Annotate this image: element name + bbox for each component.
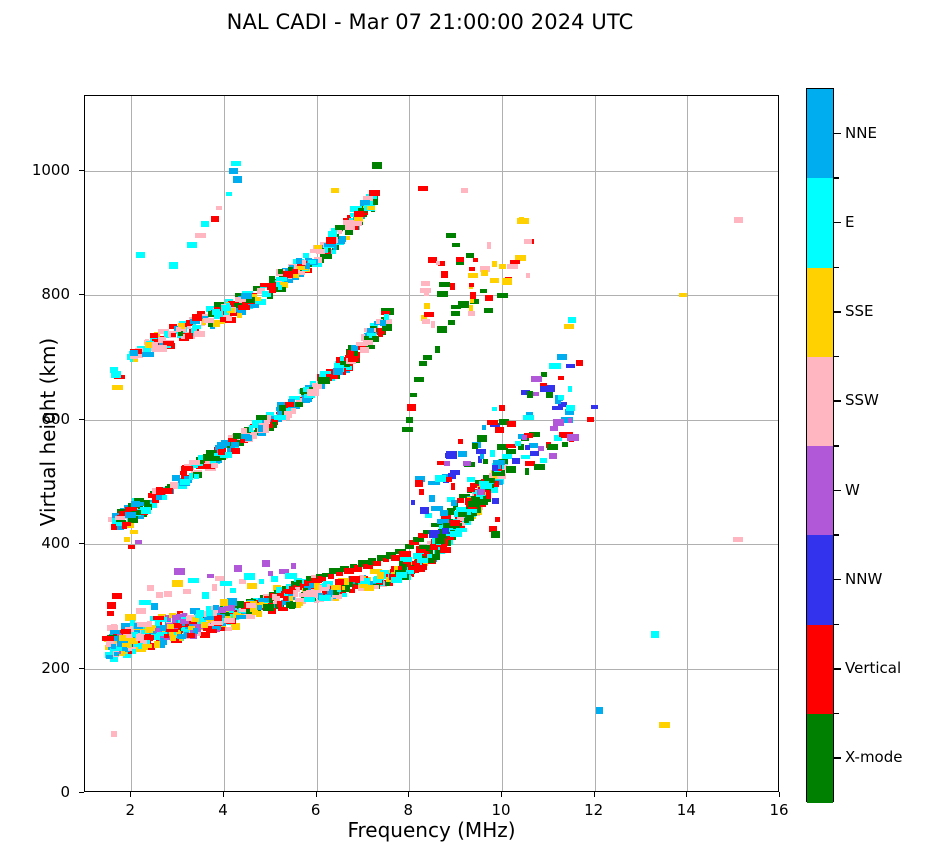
data-point (396, 572, 407, 578)
data-point (659, 722, 670, 728)
data-point (436, 261, 440, 265)
data-point (318, 377, 330, 384)
data-point (499, 405, 505, 411)
data-point (241, 428, 247, 434)
data-point (419, 489, 424, 495)
data-point (274, 415, 286, 420)
data-point (231, 161, 241, 166)
data-point (419, 545, 430, 549)
data-point (499, 264, 506, 269)
data-point (203, 454, 214, 461)
data-point (156, 487, 163, 491)
data-point (679, 293, 687, 297)
colorbar-tick-mark (834, 311, 841, 313)
data-point (156, 592, 163, 598)
data-point (226, 192, 232, 196)
data-point (167, 624, 174, 629)
data-point (137, 622, 147, 627)
data-point (111, 731, 117, 737)
data-point (356, 342, 368, 346)
x-tick-mark (408, 792, 409, 797)
colorbar-boundary-tick (834, 356, 839, 358)
data-point (492, 407, 497, 411)
data-point (423, 355, 432, 360)
data-point (333, 368, 343, 375)
data-point (418, 186, 428, 191)
data-point (377, 572, 384, 579)
x-tick-mark (594, 792, 595, 797)
data-point (481, 270, 488, 276)
colorbar-tick-mark (834, 668, 841, 670)
y-axis-label: Virtual height (km) (36, 232, 60, 632)
data-point (355, 576, 360, 583)
data-point (125, 512, 136, 518)
data-point (245, 435, 252, 441)
y-tick-mark (79, 419, 84, 420)
data-point (203, 318, 214, 323)
colorbar-boundary-tick (834, 534, 839, 536)
data-point (224, 618, 235, 623)
data-point (442, 528, 449, 534)
data-point (130, 530, 138, 534)
data-point (526, 273, 530, 278)
data-point (189, 460, 200, 465)
data-point (211, 621, 223, 625)
data-point (125, 507, 137, 511)
data-point (151, 603, 158, 610)
data-point (399, 561, 403, 565)
colorbar-label-e: E (845, 213, 854, 231)
data-point (540, 458, 547, 463)
data-point (490, 278, 499, 283)
data-point (249, 425, 253, 432)
colorbar-band-x-mode[interactable] (807, 714, 833, 803)
data-point (114, 652, 119, 656)
data-point (206, 629, 217, 633)
data-point (160, 638, 164, 643)
data-point (473, 258, 478, 262)
data-point (172, 615, 181, 620)
data-point (316, 249, 325, 254)
data-point (152, 488, 156, 494)
x-tick-label: 12 (571, 801, 617, 819)
data-point (244, 573, 255, 580)
data-point (547, 444, 558, 450)
data-point (562, 442, 568, 447)
data-points-layer (85, 96, 778, 791)
data-point (351, 345, 358, 351)
data-point (458, 451, 467, 457)
data-point (293, 590, 298, 597)
data-point (169, 262, 178, 269)
x-tick-mark (779, 792, 780, 797)
y-tick-label: 0 (10, 783, 70, 801)
data-point (490, 450, 495, 457)
data-point (115, 516, 125, 520)
colorbar-label-nnw: NNW (845, 570, 882, 588)
colorbar-tick-mark (834, 757, 841, 759)
data-point (139, 600, 151, 605)
data-point (181, 466, 193, 471)
data-point (331, 188, 339, 193)
data-point (111, 644, 116, 649)
data-point (386, 582, 390, 586)
data-point (479, 481, 489, 486)
data-point (354, 211, 365, 217)
data-point (326, 237, 336, 244)
data-point (124, 537, 130, 542)
data-point (177, 634, 186, 639)
data-point (135, 502, 144, 506)
y-tick-label: 200 (10, 659, 70, 677)
data-point (424, 291, 429, 296)
data-point (439, 282, 450, 287)
data-point (319, 595, 331, 601)
colorbar-band-ssw[interactable] (807, 357, 833, 446)
colorbar-band-e[interactable] (807, 178, 833, 267)
data-point (296, 258, 302, 264)
data-point (207, 616, 214, 620)
plot-area[interactable] (84, 95, 779, 792)
data-point (328, 574, 334, 579)
data-point (468, 311, 475, 316)
data-point (495, 517, 500, 522)
data-point (344, 568, 354, 574)
data-point (231, 448, 240, 454)
data-point (231, 623, 240, 630)
data-point (348, 356, 359, 362)
data-point (446, 233, 456, 238)
data-point (452, 243, 460, 247)
data-point (440, 547, 451, 553)
data-point (468, 273, 478, 278)
data-point (143, 635, 154, 640)
data-point (238, 305, 250, 310)
data-point (107, 602, 116, 609)
data-point (170, 635, 176, 641)
data-point (157, 345, 167, 352)
x-tick-mark (686, 792, 687, 797)
data-point (411, 500, 415, 505)
data-point (467, 487, 475, 492)
data-point (176, 327, 181, 332)
data-point (213, 320, 220, 327)
data-point (457, 498, 464, 503)
data-point (220, 317, 226, 322)
data-point (422, 319, 430, 324)
colorbar-label-w: W (845, 481, 860, 499)
data-point (206, 606, 211, 612)
data-point (463, 461, 471, 466)
data-point (142, 644, 148, 650)
data-point (279, 405, 286, 411)
data-point (256, 415, 267, 420)
data-point (415, 480, 423, 487)
colorbar-tick-mark (834, 490, 841, 492)
data-point (566, 405, 575, 411)
y-tick-mark (79, 170, 84, 171)
data-point (258, 598, 269, 602)
colorbar-tick-mark (834, 400, 841, 402)
data-point (506, 466, 516, 473)
data-point (435, 538, 445, 544)
data-point (112, 385, 123, 390)
data-point (110, 630, 120, 634)
data-point (136, 252, 145, 258)
data-point (277, 601, 282, 607)
data-point (564, 324, 574, 329)
data-point (487, 420, 498, 425)
colorbar-label-x-mode: X-mode (845, 748, 902, 766)
data-point (435, 346, 440, 353)
data-point (241, 293, 252, 299)
data-point (587, 417, 594, 422)
data-point (277, 410, 282, 415)
data-point (269, 276, 275, 283)
data-point (538, 446, 544, 451)
data-point (419, 361, 427, 366)
data-point (480, 289, 487, 293)
data-point (233, 442, 239, 447)
data-point (424, 303, 430, 309)
x-tick-label: 10 (478, 801, 524, 819)
data-point (207, 574, 214, 578)
y-tick-mark (79, 668, 84, 669)
data-point (465, 516, 474, 521)
data-point (476, 449, 486, 454)
data-point (153, 616, 164, 620)
data-point (337, 239, 345, 244)
data-point (367, 328, 374, 333)
colorbar-boundary-tick (834, 713, 839, 715)
data-point (128, 545, 135, 549)
data-point (258, 425, 263, 432)
colorbar-band-w[interactable] (807, 446, 833, 535)
data-point (524, 239, 532, 244)
data-point (292, 269, 298, 274)
data-point (449, 520, 460, 526)
data-point (102, 636, 114, 641)
data-point (451, 311, 460, 316)
data-point (135, 540, 142, 544)
data-point (331, 585, 341, 590)
data-point (147, 585, 154, 591)
data-point (260, 283, 270, 287)
data-point (164, 591, 172, 597)
colorbar-tick-mark (834, 133, 841, 135)
x-tick-label: 4 (200, 801, 246, 819)
data-point (162, 495, 167, 500)
data-point (733, 537, 743, 542)
data-point (487, 242, 491, 249)
data-point (467, 477, 475, 482)
data-point (491, 531, 500, 538)
data-point (220, 581, 232, 586)
data-point (122, 643, 130, 647)
data-point (440, 510, 448, 516)
data-point (374, 585, 379, 589)
data-point (136, 634, 144, 641)
data-point (568, 386, 572, 392)
data-point (322, 583, 327, 587)
data-point (187, 633, 195, 638)
data-point (523, 415, 534, 420)
data-point (178, 331, 183, 336)
data-point (271, 576, 278, 582)
data-point (527, 391, 533, 398)
data-point (194, 474, 199, 479)
data-point (150, 333, 158, 338)
data-point (483, 459, 488, 464)
data-point (506, 449, 516, 454)
data-point (507, 421, 516, 427)
colorbar-boundary-tick (834, 624, 839, 626)
data-point (558, 395, 564, 400)
data-point (116, 522, 122, 526)
data-point (596, 707, 603, 714)
data-point (195, 614, 203, 618)
data-point (187, 242, 197, 248)
data-point (286, 602, 296, 608)
data-point (188, 578, 199, 583)
data-point (512, 458, 520, 464)
data-point (533, 392, 539, 396)
data-point (252, 610, 258, 615)
data-point (345, 224, 355, 230)
data-point (202, 592, 209, 599)
colorbar-tick-mark (834, 579, 841, 581)
data-point (734, 217, 743, 223)
data-point (186, 616, 192, 621)
colorbar-band-sse[interactable] (807, 268, 833, 357)
data-point (566, 364, 575, 368)
y-tick-label: 1000 (10, 161, 70, 179)
data-point (651, 631, 659, 638)
data-point (576, 360, 583, 366)
data-point (211, 463, 218, 468)
data-point (485, 295, 493, 301)
data-point (218, 311, 223, 317)
data-point (291, 563, 296, 569)
data-point (383, 558, 389, 562)
data-point (259, 579, 264, 584)
data-point (247, 583, 257, 589)
data-point (122, 522, 131, 526)
colorbar-band-nnw[interactable] (807, 535, 833, 624)
data-point (430, 544, 436, 549)
data-point (145, 626, 153, 633)
data-point (107, 611, 114, 616)
data-point (147, 621, 152, 627)
data-point (468, 501, 480, 507)
data-point (502, 278, 512, 285)
data-point (557, 354, 567, 360)
data-point (515, 441, 521, 446)
data-point (558, 376, 564, 380)
x-tick-label: 6 (293, 801, 339, 819)
colorbar-band-nne[interactable] (807, 89, 833, 178)
data-point (420, 507, 429, 514)
data-point (336, 572, 343, 576)
x-tick-label: 14 (663, 801, 709, 819)
data-point (437, 326, 447, 333)
data-point (211, 216, 219, 222)
data-point (276, 277, 287, 281)
data-point (213, 605, 219, 610)
data-point (112, 593, 122, 599)
data-point (224, 605, 235, 611)
data-point (278, 285, 282, 290)
ionogram-figure: NAL CADI - Mar 07 21:00:00 2024 UTC 2468… (0, 0, 951, 856)
data-point (236, 615, 246, 619)
data-point (234, 565, 242, 572)
data-point (450, 283, 455, 290)
data-point (451, 500, 457, 506)
x-axis-label: Frequency (MHz) (84, 818, 779, 842)
x-tick-label: 16 (756, 801, 802, 819)
data-point (469, 283, 474, 287)
x-tick-mark (130, 792, 131, 797)
x-tick-mark (316, 792, 317, 797)
data-point (458, 301, 469, 308)
data-point (195, 233, 206, 238)
data-point (201, 221, 209, 227)
x-tick-mark (501, 792, 502, 797)
data-point (495, 427, 504, 433)
data-point (194, 331, 205, 337)
data-point (441, 271, 448, 278)
data-point (295, 402, 303, 407)
data-point (477, 489, 485, 495)
data-point (123, 623, 130, 627)
data-point (424, 312, 434, 317)
colorbar-tick-mark (834, 222, 841, 224)
data-point (446, 477, 452, 482)
data-point (163, 488, 173, 494)
data-point (507, 264, 518, 269)
data-point (414, 563, 420, 570)
data-point (111, 371, 121, 378)
data-point (173, 623, 182, 628)
data-point (180, 479, 190, 485)
y-tick-mark (79, 543, 84, 544)
data-point (413, 553, 422, 559)
colorbar[interactable] (806, 88, 834, 802)
data-point (531, 376, 542, 382)
data-point (480, 454, 484, 459)
data-point (174, 568, 185, 575)
data-point (534, 464, 545, 470)
data-point (456, 257, 464, 262)
x-tick-label: 8 (385, 801, 431, 819)
data-point (591, 405, 598, 409)
data-point (492, 498, 499, 504)
data-point (130, 350, 138, 356)
data-point (417, 558, 428, 563)
data-point (269, 289, 276, 293)
data-point (237, 313, 242, 318)
data-point (220, 599, 228, 606)
data-point (262, 560, 270, 567)
colorbar-band-vertical[interactable] (807, 625, 833, 714)
data-point (380, 320, 386, 326)
data-point (171, 333, 176, 337)
data-point (263, 604, 274, 611)
data-point (521, 455, 530, 459)
data-point (218, 449, 225, 455)
data-point (491, 488, 498, 493)
data-point (340, 356, 344, 361)
